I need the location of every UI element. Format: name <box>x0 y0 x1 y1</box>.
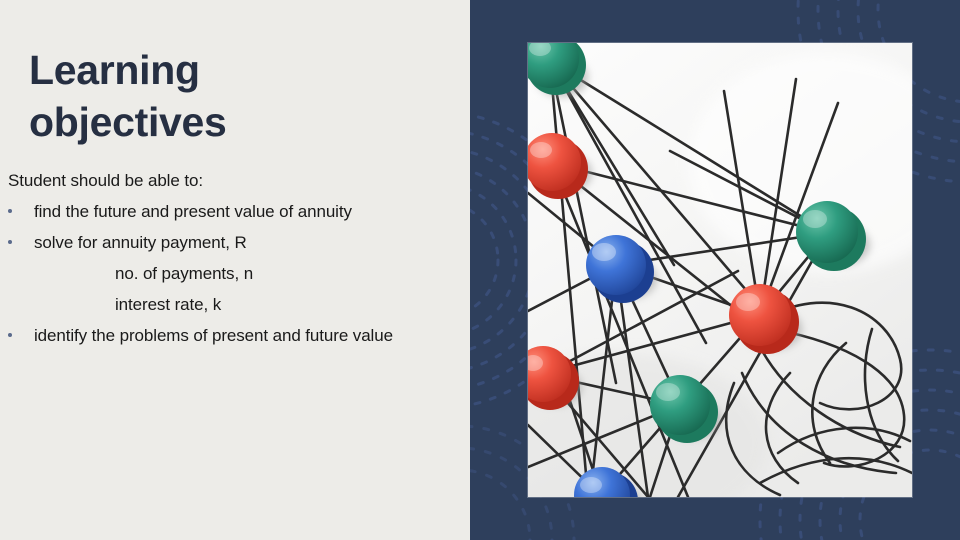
bullet-dot-icon <box>8 240 12 244</box>
bullet-dot-icon <box>8 209 12 213</box>
sub-line: interest rate, k <box>0 293 470 316</box>
network-pins-photo <box>528 43 912 497</box>
list-item-label: solve for annuity payment, R <box>34 233 247 252</box>
page-title-line-1: Learning <box>29 44 429 96</box>
slide-learning-objectives: Learning objectives Student should be ab… <box>0 0 960 540</box>
list-item: solve for annuity payment, R <box>0 231 470 254</box>
left-content-panel: Learning objectives Student should be ab… <box>0 0 470 540</box>
objectives-list: find the future and present value of ann… <box>0 200 470 254</box>
sub-line: no. of payments, n <box>0 262 470 285</box>
page-title: Learning objectives <box>29 44 429 148</box>
page-title-line-2: objectives <box>29 96 429 148</box>
objectives-list-continued: identify the problems of present and fut… <box>0 324 470 347</box>
list-item: identify the problems of present and fut… <box>0 324 470 347</box>
list-item: find the future and present value of ann… <box>0 200 470 223</box>
lead-text: Student should be able to: <box>0 170 470 192</box>
list-item-label: identify the problems of present and fut… <box>34 326 393 345</box>
list-item-label: find the future and present value of ann… <box>34 202 352 221</box>
bullet-dot-icon <box>8 333 12 337</box>
objectives-body: Student should be able to: find the futu… <box>0 170 470 355</box>
